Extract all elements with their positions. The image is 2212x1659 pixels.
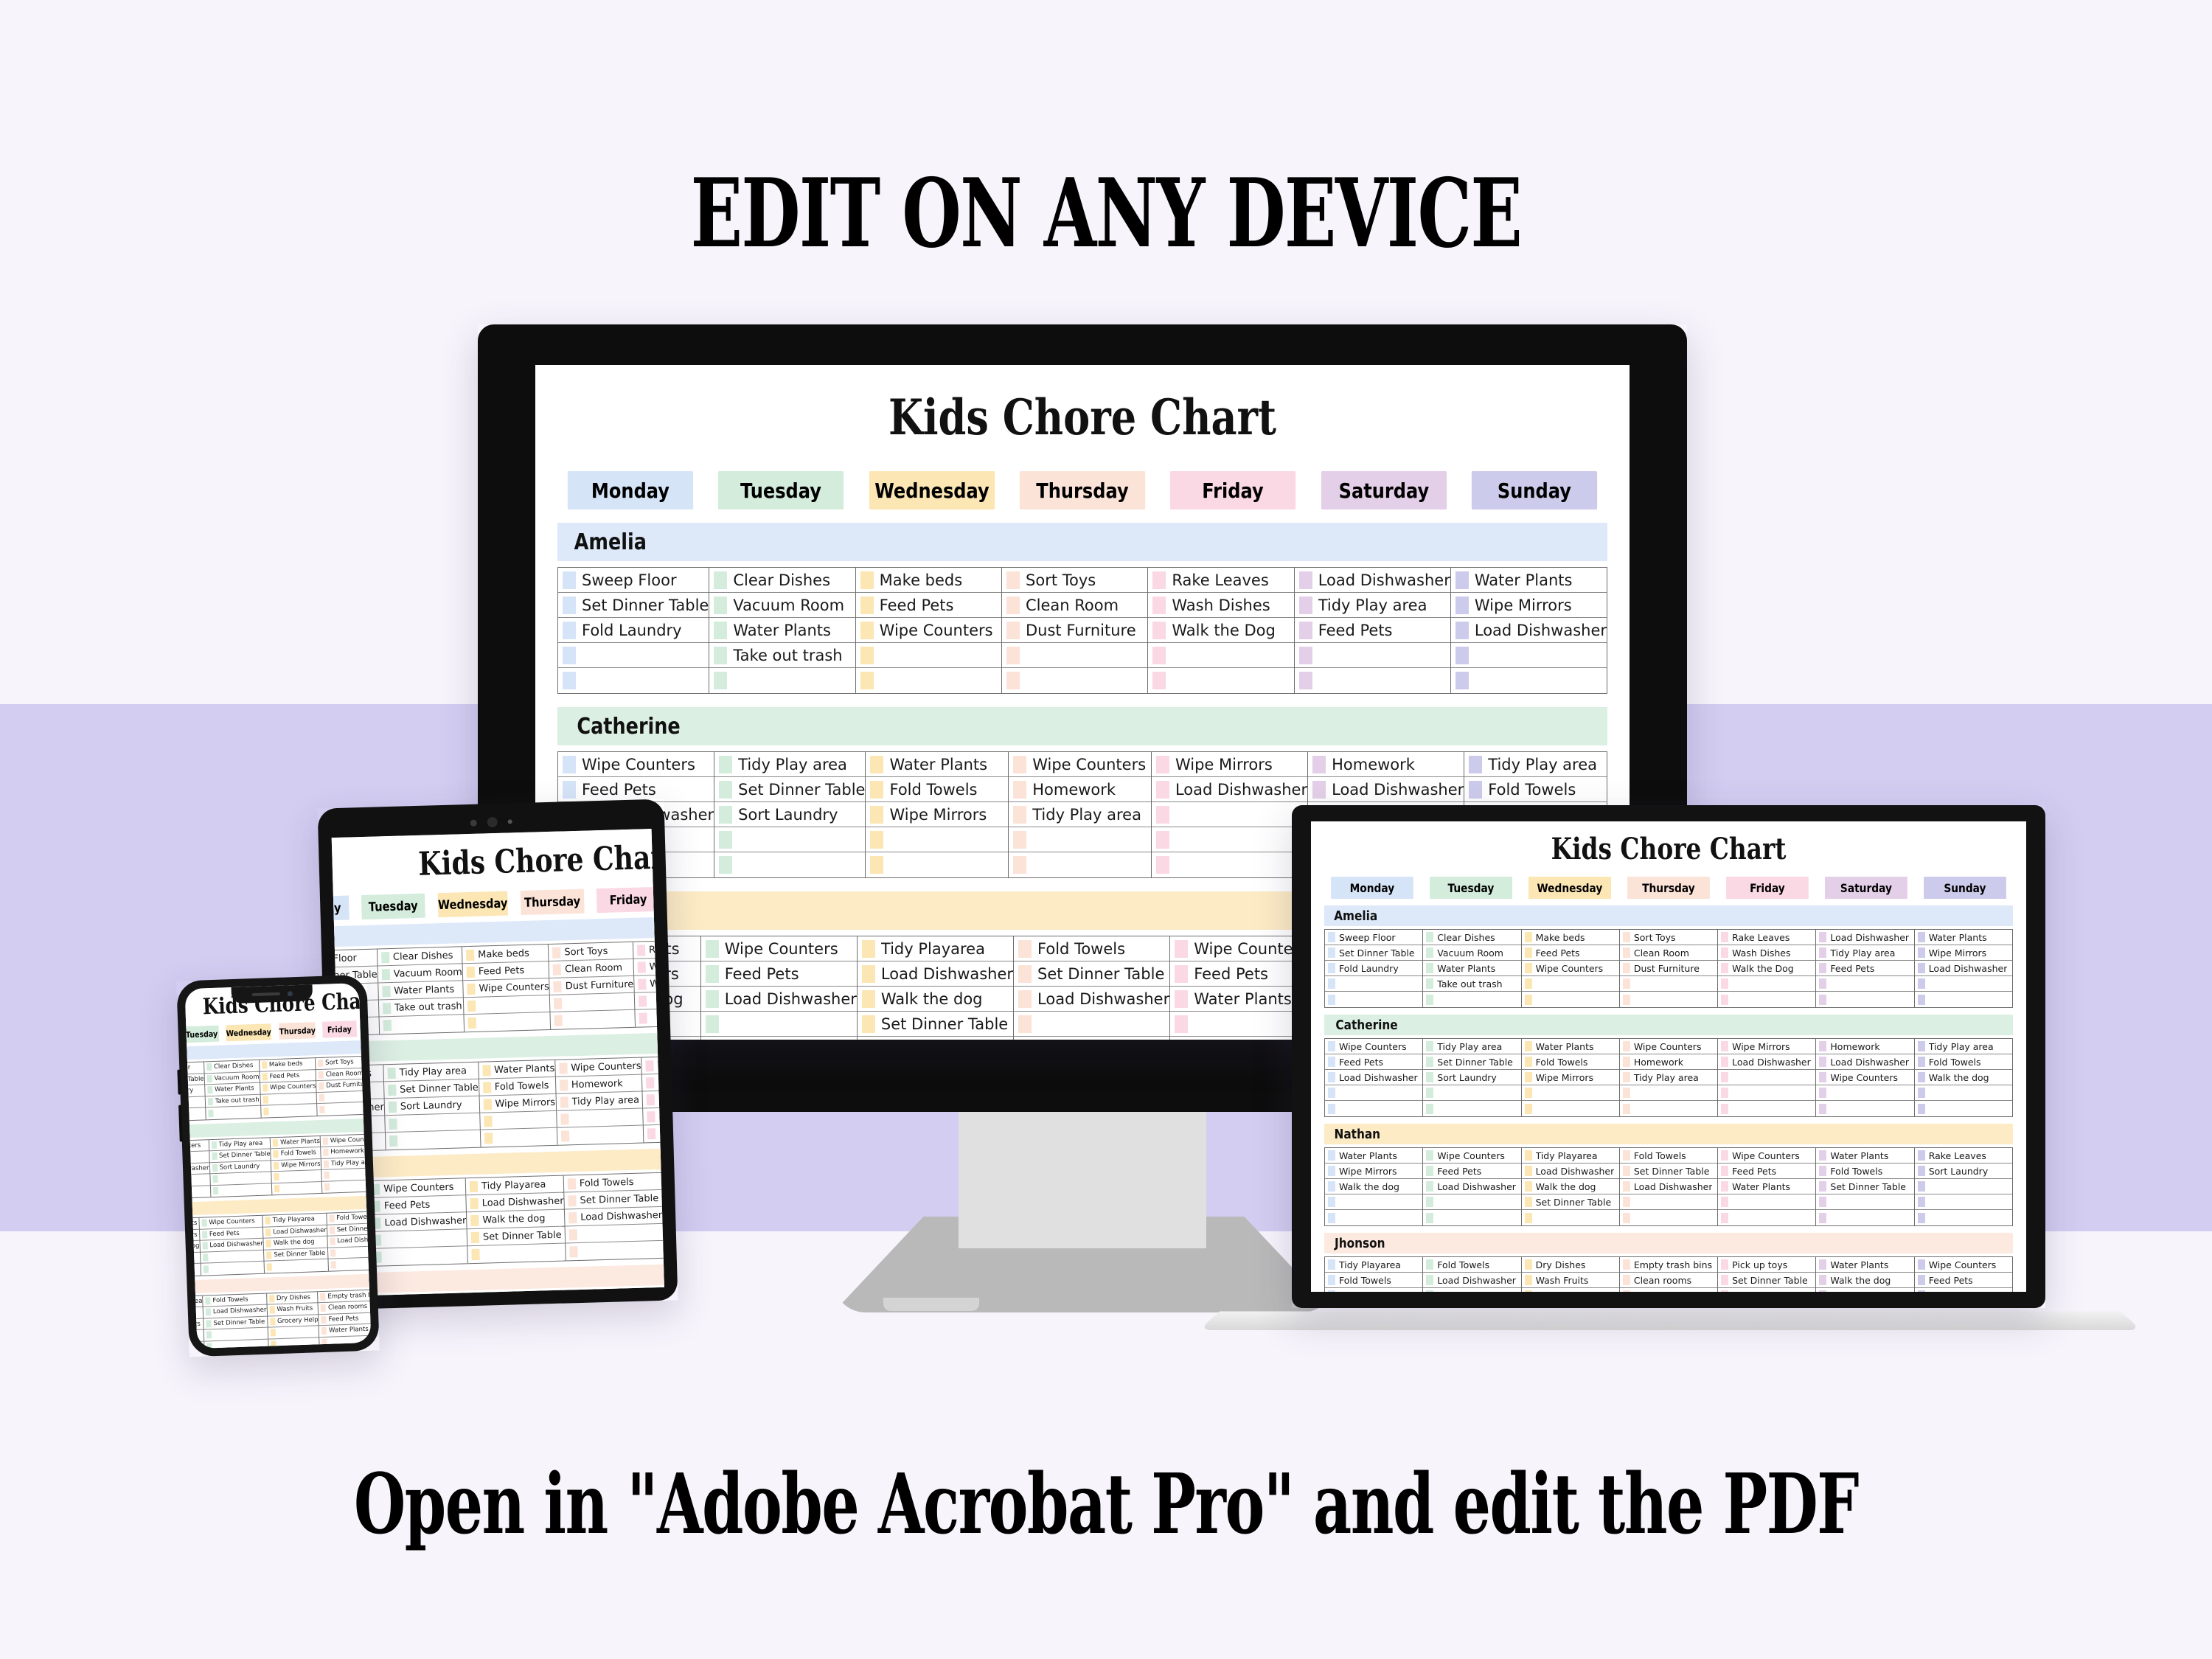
chore-cell[interactable]: [1295, 668, 1450, 693]
chore-cell[interactable]: Feed Pets: [1620, 1288, 1717, 1292]
chore-checkbox-icon[interactable]: [484, 1116, 492, 1127]
chore-checkbox-icon[interactable]: [1623, 932, 1630, 942]
chore-cell[interactable]: Fold Laundry: [558, 618, 709, 643]
chore-checkbox-icon[interactable]: [1918, 1150, 1925, 1161]
chore-cell[interactable]: [1009, 852, 1151, 877]
day-header-monday[interactable]: Monday: [568, 471, 693, 509]
chore-checkbox-icon[interactable]: [1819, 1072, 1826, 1082]
chore-checkbox-icon[interactable]: [320, 1293, 325, 1301]
chore-checkbox-icon[interactable]: [1918, 1041, 1925, 1051]
chore-checkbox-icon[interactable]: [330, 1261, 335, 1268]
chore-checkbox-icon[interactable]: [1175, 940, 1188, 958]
chore-checkbox-icon[interactable]: [323, 1149, 328, 1156]
day-header-wednesday[interactable]: Wednesday: [438, 891, 508, 918]
chore-cell[interactable]: Clear Dishes: [1423, 930, 1520, 945]
chore-checkbox-icon[interactable]: [381, 952, 389, 963]
chore-checkbox-icon[interactable]: [319, 1082, 324, 1090]
chore-checkbox-icon[interactable]: [1918, 1259, 1925, 1270]
chore-checkbox-icon[interactable]: [1426, 995, 1433, 1005]
chore-checkbox-icon[interactable]: [639, 995, 647, 1006]
chore-cell[interactable]: [386, 1130, 480, 1150]
day-header-wednesday[interactable]: Wednesday: [869, 471, 995, 509]
chore-checkbox-icon[interactable]: [484, 1133, 493, 1144]
chore-checkbox-icon[interactable]: [1721, 932, 1728, 942]
chore-checkbox-icon[interactable]: [1819, 995, 1826, 1005]
chore-cell[interactable]: Walk the dog: [1522, 1179, 1619, 1194]
chore-checkbox-icon[interactable]: [719, 806, 732, 824]
chore-cell[interactable]: Vacuum Room: [378, 964, 462, 983]
chore-checkbox-icon[interactable]: [1918, 995, 1925, 1005]
chore-checkbox-icon[interactable]: [470, 1180, 478, 1192]
chore-checkbox-icon[interactable]: [1426, 1166, 1433, 1176]
chore-checkbox-icon[interactable]: [203, 1265, 208, 1273]
chore-cell[interactable]: Tidy Play area: [714, 752, 865, 777]
chore-checkbox-icon[interactable]: [1018, 1015, 1032, 1033]
chore-cell[interactable]: [551, 1010, 635, 1029]
chore-checkbox-icon[interactable]: [212, 1187, 218, 1194]
chore-checkbox-icon[interactable]: [563, 597, 576, 614]
chore-cell[interactable]: Load Dishwasher: [1620, 1179, 1717, 1194]
chore-cell[interactable]: [1325, 976, 1422, 992]
chore-checkbox-icon[interactable]: [471, 1249, 479, 1260]
chore-cell[interactable]: [464, 1012, 550, 1032]
chore-cell[interactable]: [210, 1183, 271, 1197]
chore-cell[interactable]: Tidy Playarea: [858, 936, 1013, 961]
chore-cell[interactable]: Walk the dog: [1325, 1179, 1422, 1194]
chore-cell[interactable]: [1451, 668, 1607, 693]
chore-checkbox-icon[interactable]: [1328, 1213, 1335, 1223]
chore-cell[interactable]: [1423, 1210, 1520, 1225]
chore-cell[interactable]: [1816, 1288, 1913, 1292]
chore-checkbox-icon[interactable]: [1328, 963, 1335, 973]
chore-checkbox-icon[interactable]: [1013, 781, 1026, 799]
chore-checkbox-icon[interactable]: [1721, 1150, 1728, 1161]
chore-checkbox-icon[interactable]: [1328, 978, 1335, 989]
chore-cell[interactable]: Clean Room: [1002, 593, 1147, 618]
chore-checkbox-icon[interactable]: [470, 1197, 479, 1208]
day-header-tuesday[interactable]: Tuesday: [1430, 877, 1512, 899]
chore-checkbox-icon[interactable]: [1819, 1041, 1826, 1051]
chore-checkbox-icon[interactable]: [1328, 1181, 1335, 1192]
chore-checkbox-icon[interactable]: [329, 1215, 334, 1222]
chore-cell[interactable]: Wipe Mirrors: [1325, 1164, 1422, 1179]
chore-checkbox-icon[interactable]: [1721, 1166, 1728, 1176]
chore-checkbox-icon[interactable]: [208, 1110, 213, 1117]
chore-checkbox-icon[interactable]: [274, 1173, 279, 1180]
chore-cell[interactable]: [369, 1246, 467, 1266]
chore-cell[interactable]: Empty trash bins: [1620, 1257, 1717, 1273]
chore-cell[interactable]: [709, 668, 855, 693]
chore-cell[interactable]: Set Dinner Table: [714, 777, 865, 802]
chore-cell[interactable]: [1816, 992, 1913, 1007]
chore-cell[interactable]: Feed Pets: [1325, 1054, 1422, 1070]
chore-checkbox-icon[interactable]: [467, 983, 475, 994]
chore-cell[interactable]: [1152, 827, 1307, 852]
chore-cell[interactable]: Sweep Floor: [1325, 930, 1422, 945]
chore-cell[interactable]: [1325, 1210, 1422, 1225]
chore-checkbox-icon[interactable]: [1623, 1166, 1630, 1176]
chore-checkbox-icon[interactable]: [860, 622, 874, 639]
chore-cell[interactable]: Load Dishwasher: [1718, 1054, 1815, 1070]
chore-cell[interactable]: Set Dinner Table: [1423, 1288, 1520, 1292]
chore-cell[interactable]: Set Dinner Table: [858, 1012, 1013, 1037]
chore-checkbox-icon[interactable]: [1152, 597, 1166, 614]
chore-cell[interactable]: Take out trash: [379, 998, 464, 1017]
chore-cell[interactable]: Fold Towels: [1915, 1054, 2012, 1070]
chore-checkbox-icon[interactable]: [212, 1175, 218, 1183]
chore-checkbox-icon[interactable]: [1006, 571, 1020, 589]
chore-checkbox-icon[interactable]: [552, 947, 560, 958]
chore-checkbox-icon[interactable]: [1623, 995, 1630, 1005]
chore-checkbox-icon[interactable]: [870, 756, 883, 773]
chore-checkbox-icon[interactable]: [1156, 831, 1169, 849]
chore-checkbox-icon[interactable]: [1328, 1041, 1335, 1051]
chore-cell[interactable]: Load Dishwasher: [858, 961, 1013, 987]
chore-checkbox-icon[interactable]: [319, 1094, 324, 1102]
chore-checkbox-icon[interactable]: [1175, 1015, 1188, 1033]
chore-cell[interactable]: [1009, 827, 1151, 852]
chore-checkbox-icon[interactable]: [1623, 1041, 1630, 1051]
chore-checkbox-icon[interactable]: [270, 1329, 275, 1337]
chore-checkbox-icon[interactable]: [706, 990, 719, 1008]
chore-checkbox-icon[interactable]: [706, 1015, 719, 1033]
chore-checkbox-icon[interactable]: [714, 597, 727, 614]
chore-cell[interactable]: Sort Laundry: [714, 802, 865, 827]
chore-checkbox-icon[interactable]: [569, 1229, 577, 1240]
chore-cell[interactable]: [1522, 1085, 1619, 1101]
chore-cell[interactable]: Tidy Play area: [1295, 593, 1450, 618]
chore-cell[interactable]: Set Dinner Table: [1014, 961, 1169, 987]
chore-cell[interactable]: Take out trash: [709, 643, 855, 668]
chore-checkbox-icon[interactable]: [267, 1263, 272, 1270]
chore-cell[interactable]: Wipe Mirrors: [1718, 1039, 1815, 1054]
chore-cell[interactable]: Dust Furniture: [1620, 961, 1717, 976]
chore-cell[interactable]: Rake Leaves: [1915, 1148, 2012, 1164]
chore-checkbox-icon[interactable]: [1426, 1213, 1433, 1223]
chore-cell[interactable]: Wipe Counters: [558, 752, 714, 777]
chore-cell[interactable]: Set Dinner Table: [558, 593, 709, 618]
chore-checkbox-icon[interactable]: [274, 1150, 279, 1158]
chore-cell[interactable]: Load Dishwasher: [1522, 1164, 1619, 1179]
chore-checkbox-icon[interactable]: [554, 1015, 563, 1026]
chore-checkbox-icon[interactable]: [1819, 1213, 1826, 1223]
chore-cell[interactable]: Load Dishwasher: [1325, 1070, 1422, 1085]
chore-cell[interactable]: Wipe Mirrors: [1152, 752, 1307, 777]
chore-checkbox-icon[interactable]: [1819, 1057, 1826, 1067]
chore-checkbox-icon[interactable]: [1623, 1057, 1630, 1067]
chore-checkbox-icon[interactable]: [388, 1084, 396, 1095]
chore-checkbox-icon[interactable]: [1455, 597, 1469, 614]
chore-checkbox-icon[interactable]: [563, 622, 576, 639]
chore-cell[interactable]: Set Dinner Table: [1620, 1164, 1717, 1179]
chore-cell[interactable]: Fold Towels: [866, 777, 1008, 802]
chore-checkbox-icon[interactable]: [1426, 1057, 1433, 1067]
chore-cell[interactable]: Wash Dishes: [1148, 593, 1293, 618]
chore-checkbox-icon[interactable]: [1819, 1259, 1826, 1270]
chore-checkbox-icon[interactable]: [266, 1251, 271, 1259]
chore-cell[interactable]: Load Dishwasher: [701, 987, 857, 1012]
chore-checkbox-icon[interactable]: [381, 969, 389, 980]
chore-cell[interactable]: [550, 993, 634, 1012]
chore-checkbox-icon[interactable]: [560, 1096, 568, 1107]
chore-cell[interactable]: [1325, 1101, 1422, 1116]
chore-checkbox-icon[interactable]: [1525, 1041, 1532, 1051]
day-header-friday[interactable]: Friday: [1170, 471, 1295, 509]
chore-checkbox-icon[interactable]: [1018, 965, 1032, 983]
chore-cell[interactable]: [714, 852, 865, 877]
chore-cell[interactable]: Pick up toys: [1718, 1257, 1815, 1273]
chore-cell[interactable]: Feed Pets: [1423, 1164, 1520, 1179]
chore-cell[interactable]: [261, 1104, 317, 1117]
chore-checkbox-icon[interactable]: [1175, 990, 1188, 1008]
chore-cell[interactable]: [1423, 992, 1520, 1007]
chore-checkbox-icon[interactable]: [1721, 978, 1728, 989]
chore-cell[interactable]: Wash Dishes: [1718, 945, 1815, 961]
chore-checkbox-icon[interactable]: [1006, 622, 1020, 639]
chore-cell[interactable]: Wipe Counters: [555, 1058, 641, 1077]
chore-cell[interactable]: Homework: [1816, 1039, 1913, 1054]
chore-checkbox-icon[interactable]: [1623, 1197, 1630, 1207]
chore-cell[interactable]: Load Dishwasher: [1423, 1273, 1520, 1288]
chore-cell[interactable]: [1915, 1179, 2012, 1194]
chore-checkbox-icon[interactable]: [1299, 571, 1312, 589]
chore-checkbox-icon[interactable]: [1426, 1088, 1433, 1098]
chore-checkbox-icon[interactable]: [202, 1231, 207, 1238]
chore-cell[interactable]: Tidy Play area: [556, 1092, 642, 1111]
chore-checkbox-icon[interactable]: [1623, 1150, 1630, 1161]
chore-checkbox-icon[interactable]: [1623, 1213, 1630, 1223]
chore-checkbox-icon[interactable]: [262, 1096, 268, 1103]
chore-checkbox-icon[interactable]: [1013, 856, 1026, 874]
chore-checkbox-icon[interactable]: [1156, 806, 1169, 824]
chore-checkbox-icon[interactable]: [265, 1217, 271, 1225]
chore-checkbox-icon[interactable]: [563, 571, 576, 589]
chore-cell[interactable]: [1718, 1210, 1815, 1225]
chore-checkbox-icon[interactable]: [266, 1240, 271, 1248]
day-header-saturday[interactable]: Saturday: [1321, 471, 1447, 509]
chore-checkbox-icon[interactable]: [1426, 1197, 1433, 1207]
chore-cell[interactable]: Tidy Playarea: [1522, 1148, 1619, 1164]
chore-cell[interactable]: Make beds: [462, 945, 549, 964]
chore-checkbox-icon[interactable]: [1426, 1072, 1433, 1082]
chore-cell[interactable]: Load Dishwasher: [1816, 1054, 1913, 1070]
chore-checkbox-icon[interactable]: [568, 1178, 576, 1189]
chore-checkbox-icon[interactable]: [647, 1094, 655, 1105]
chore-checkbox-icon[interactable]: [559, 1062, 567, 1074]
chore-cell[interactable]: [566, 1241, 663, 1261]
chore-cell[interactable]: Tidy Play area: [1915, 1039, 2012, 1054]
chore-checkbox-icon[interactable]: [1152, 672, 1166, 689]
chore-checkbox-icon[interactable]: [212, 1152, 217, 1160]
chore-cell[interactable]: [1002, 668, 1147, 693]
chore-checkbox-icon[interactable]: [201, 1220, 206, 1227]
chore-checkbox-icon[interactable]: [1819, 932, 1826, 942]
chore-checkbox-icon[interactable]: [1328, 1259, 1335, 1270]
chore-checkbox-icon[interactable]: [207, 1098, 212, 1105]
chore-cell[interactable]: Wipe Mirrors: [479, 1094, 556, 1113]
chore-checkbox-icon[interactable]: [870, 856, 883, 874]
chore-checkbox-icon[interactable]: [1525, 1166, 1532, 1176]
chore-checkbox-icon[interactable]: [1918, 1088, 1925, 1098]
chore-checkbox-icon[interactable]: [1918, 947, 1925, 958]
chore-checkbox-icon[interactable]: [1299, 597, 1312, 614]
chore-checkbox-icon[interactable]: [1299, 647, 1312, 664]
chore-checkbox-icon[interactable]: [563, 672, 576, 689]
chore-checkbox-icon[interactable]: [860, 647, 874, 664]
chore-checkbox-icon[interactable]: [273, 1139, 278, 1147]
chore-cell[interactable]: Wipe Counters: [1009, 752, 1151, 777]
chore-cell[interactable]: Grocery Help: [1522, 1288, 1619, 1292]
chore-cell[interactable]: Set Dinner Table: [1522, 1194, 1619, 1210]
chore-cell[interactable]: Feed Pets: [1295, 618, 1450, 643]
chore-checkbox-icon[interactable]: [467, 966, 475, 977]
chore-checkbox-icon[interactable]: [554, 998, 562, 1009]
chore-checkbox-icon[interactable]: [1525, 1259, 1532, 1270]
chore-checkbox-icon[interactable]: [719, 831, 732, 849]
chore-checkbox-icon[interactable]: [1623, 1259, 1630, 1270]
chore-checkbox-icon[interactable]: [1013, 831, 1026, 849]
chore-cell[interactable]: Wipe Mirrors: [1451, 593, 1607, 618]
chore-cell[interactable]: Water Plants: [378, 981, 463, 1000]
chore-cell[interactable]: [1718, 1070, 1815, 1085]
chore-cell[interactable]: Load Dishwasher: [1152, 777, 1307, 802]
chore-cell[interactable]: [558, 643, 709, 668]
chore-checkbox-icon[interactable]: [319, 1071, 324, 1079]
chore-cell[interactable]: [1325, 992, 1422, 1007]
chore-checkbox-icon[interactable]: [1525, 1197, 1532, 1207]
laptop-screen[interactable]: Kids Chore Chart MondayTuesdayWednesdayT…: [1311, 821, 2026, 1292]
chore-cell[interactable]: [1816, 976, 1913, 992]
chore-cell[interactable]: [1915, 1210, 2012, 1225]
chore-checkbox-icon[interactable]: [211, 1141, 216, 1149]
chore-cell[interactable]: [1915, 1194, 2012, 1210]
chore-cell[interactable]: Water Plants: [1423, 961, 1520, 976]
chore-checkbox-icon[interactable]: [1328, 1104, 1335, 1114]
chore-checkbox-icon[interactable]: [319, 1105, 324, 1113]
chore-checkbox-icon[interactable]: [1819, 963, 1826, 973]
day-header-sunday[interactable]: Sunday: [1472, 471, 1597, 509]
chore-cell[interactable]: [701, 1012, 857, 1037]
chore-cell[interactable]: [1325, 1085, 1422, 1101]
chore-checkbox-icon[interactable]: [1623, 1088, 1630, 1098]
chore-checkbox-icon[interactable]: [1525, 1088, 1532, 1098]
chore-checkbox-icon[interactable]: [862, 965, 875, 983]
chore-cell[interactable]: Load Dishwasher: [1816, 930, 1913, 945]
chore-checkbox-icon[interactable]: [1623, 963, 1630, 973]
day-header-thursday[interactable]: Thursday: [521, 889, 585, 915]
chore-cell[interactable]: [1620, 1101, 1717, 1116]
chore-checkbox-icon[interactable]: [1525, 1213, 1532, 1223]
chore-cell[interactable]: [328, 1245, 372, 1259]
chore-cell[interactable]: Walk the dog: [1915, 1070, 2012, 1085]
chore-cell[interactable]: [1620, 992, 1717, 1007]
chore-cell[interactable]: [1718, 976, 1815, 992]
chore-cell[interactable]: [1915, 1101, 2012, 1116]
chore-cell[interactable]: [1295, 643, 1450, 668]
chore-checkbox-icon[interactable]: [205, 1297, 210, 1304]
chore-cell[interactable]: Load Dishwasher: [1308, 777, 1464, 802]
chore-cell[interactable]: [1423, 1101, 1520, 1116]
chore-cell[interactable]: [714, 827, 865, 852]
chore-checkbox-icon[interactable]: [1328, 1290, 1335, 1292]
chore-checkbox-icon[interactable]: [860, 571, 874, 589]
chore-checkbox-icon[interactable]: [206, 1332, 212, 1339]
chore-checkbox-icon[interactable]: [569, 1246, 577, 1257]
chore-cell[interactable]: Wipe Mirrors: [1325, 1288, 1422, 1292]
chore-cell[interactable]: [1620, 1085, 1717, 1101]
chore-cell[interactable]: [1148, 643, 1293, 668]
chore-checkbox-icon[interactable]: [1156, 856, 1169, 874]
chore-checkbox-icon[interactable]: [1328, 1166, 1335, 1176]
chore-checkbox-icon[interactable]: [860, 597, 874, 614]
chore-checkbox-icon[interactable]: [1328, 932, 1335, 942]
day-header-thursday[interactable]: Thursday: [1020, 471, 1145, 509]
chore-cell[interactable]: [557, 1126, 644, 1145]
chore-checkbox-icon[interactable]: [1721, 1104, 1728, 1114]
chore-checkbox-icon[interactable]: [321, 1304, 326, 1312]
chore-cell[interactable]: [1325, 1194, 1422, 1210]
chore-cell[interactable]: Tidy Play area: [1620, 1070, 1717, 1085]
chore-checkbox-icon[interactable]: [1426, 932, 1433, 942]
chore-cell[interactable]: Clean rooms: [1620, 1273, 1717, 1288]
day-header-wednesday[interactable]: Wednesday: [1528, 877, 1611, 899]
day-header-tuesday[interactable]: Tuesday: [185, 1026, 219, 1043]
chore-cell[interactable]: Load Dishwasher: [327, 1234, 371, 1248]
chore-checkbox-icon[interactable]: [270, 1318, 275, 1325]
chore-checkbox-icon[interactable]: [706, 965, 719, 983]
chore-checkbox-icon[interactable]: [1426, 1181, 1433, 1192]
chore-checkbox-icon[interactable]: [1426, 947, 1433, 958]
chore-cell[interactable]: Feed Pets: [1915, 1273, 2012, 1288]
chore-cell[interactable]: [1915, 1085, 2012, 1101]
chore-checkbox-icon[interactable]: [1455, 622, 1469, 639]
chore-cell[interactable]: Walk the dog: [858, 987, 1013, 1012]
chore-cell[interactable]: Clear Dishes: [709, 568, 855, 593]
chore-cell[interactable]: [1718, 992, 1815, 1007]
chore-checkbox-icon[interactable]: [202, 1242, 207, 1250]
chore-cell[interactable]: Water Plants: [709, 618, 855, 643]
chore-cell[interactable]: [480, 1111, 557, 1130]
chore-cell[interactable]: [1152, 852, 1307, 877]
chore-checkbox-icon[interactable]: [206, 1075, 212, 1082]
chore-checkbox-icon[interactable]: [646, 1077, 654, 1088]
chore-cell[interactable]: [206, 1106, 260, 1119]
chore-checkbox-icon[interactable]: [1006, 647, 1020, 664]
chore-checkbox-icon[interactable]: [1721, 963, 1728, 973]
chore-checkbox-icon[interactable]: [1525, 1181, 1532, 1192]
chore-checkbox-icon[interactable]: [719, 756, 732, 773]
chore-checkbox-icon[interactable]: [560, 1113, 568, 1124]
chore-cell[interactable]: [1816, 1210, 1913, 1225]
chore-cell[interactable]: [1718, 1085, 1815, 1101]
chore-cell[interactable]: Tidy Play area: [1423, 1039, 1520, 1054]
chore-checkbox-icon[interactable]: [1426, 1275, 1433, 1285]
chore-checkbox-icon[interactable]: [1623, 1072, 1630, 1082]
chore-cell[interactable]: Fold Towels: [1620, 1148, 1717, 1164]
chore-cell[interactable]: Wipe Mirrors: [1522, 1070, 1619, 1085]
chore-checkbox-icon[interactable]: [1819, 1275, 1826, 1285]
chore-cell[interactable]: [379, 1015, 464, 1034]
chore-checkbox-icon[interactable]: [383, 1020, 391, 1031]
day-header-friday[interactable]: Friday: [597, 887, 661, 913]
chore-cell[interactable]: [1718, 1101, 1815, 1116]
chore-checkbox-icon[interactable]: [262, 1085, 268, 1092]
person-band-amelia[interactable]: Amelia: [1324, 905, 2013, 926]
chore-checkbox-icon[interactable]: [1918, 963, 1925, 973]
chore-checkbox-icon[interactable]: [1918, 1057, 1925, 1067]
chore-cell[interactable]: [1522, 992, 1619, 1007]
chore-checkbox-icon[interactable]: [1525, 1290, 1532, 1292]
